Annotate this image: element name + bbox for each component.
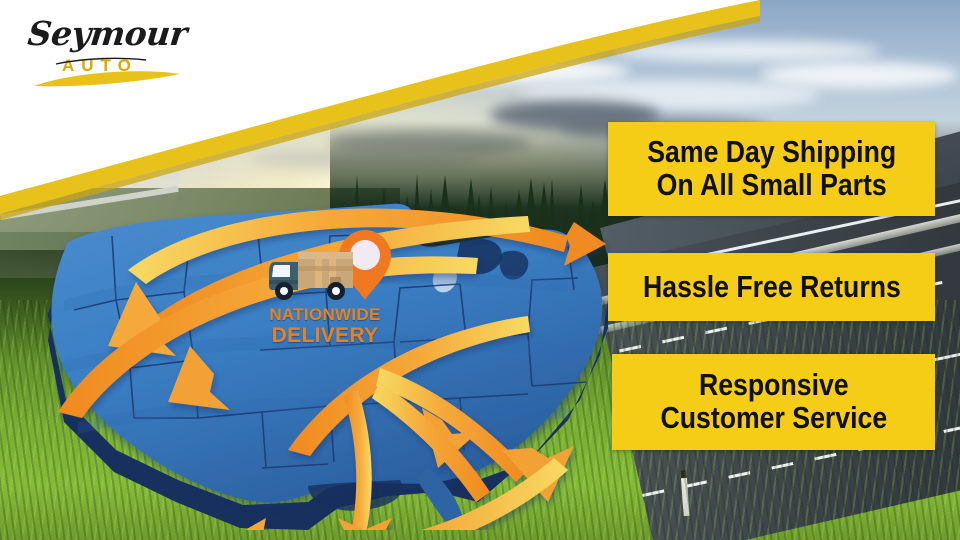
nationwide-delivery-label: NATIONWIDE DELIVERY <box>255 306 395 346</box>
feature-line-1: Hassle Free Returns <box>643 271 901 304</box>
logo-swoosh-icon <box>22 8 202 100</box>
brand-logo[interactable]: Seymour AUTO <box>22 8 202 100</box>
cloud <box>760 62 960 88</box>
nationwide-line: NATIONWIDE <box>255 306 395 323</box>
feature-box-hassle-free-returns[interactable]: Hassle Free Returns <box>608 253 935 321</box>
feature-box-responsive-customer-service[interactable]: Responsive Customer Service <box>612 354 935 450</box>
feature-line-2: On All Small Parts <box>647 169 896 202</box>
delivery-line: DELIVERY <box>255 325 395 346</box>
feature-box-same-day-shipping[interactable]: Same Day Shipping On All Small Parts <box>608 122 935 216</box>
feature-line-1: Same Day Shipping <box>647 136 896 169</box>
feature-line-1: Responsive <box>660 369 887 402</box>
feature-line-2: Customer Service <box>660 402 887 435</box>
delivery-truck-icon <box>268 246 363 304</box>
promo-banner: NATIONWIDE DELIVERY Seymour AUTO Same Da… <box>0 0 960 540</box>
